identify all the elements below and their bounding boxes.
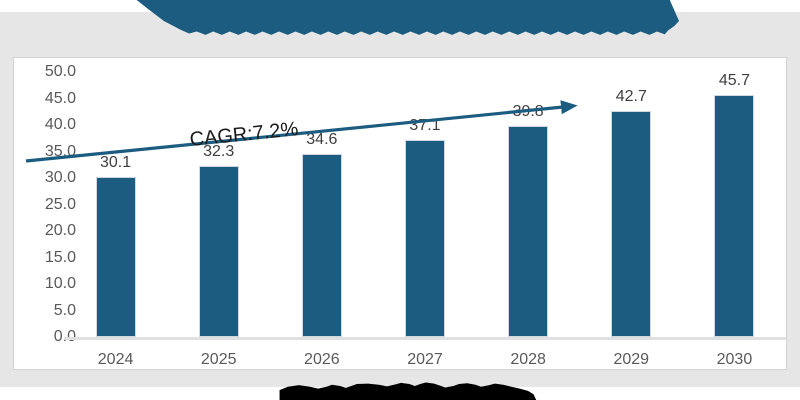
bar-2029[interactable] bbox=[611, 111, 651, 337]
bar-value-label-2028: 39.8 bbox=[488, 103, 568, 121]
bar-2024[interactable] bbox=[96, 177, 136, 337]
y-axis-tick-label: 5.0 bbox=[18, 303, 76, 319]
bar-2028[interactable] bbox=[508, 126, 548, 337]
bar-value-label-2027: 37.1 bbox=[385, 117, 465, 135]
y-axis-tick-label: 10.0 bbox=[18, 276, 76, 292]
x-axis-tick-label-2030: 2030 bbox=[694, 351, 774, 369]
y-axis-tick-label: 15.0 bbox=[18, 250, 76, 266]
bar-2026[interactable] bbox=[302, 154, 342, 337]
bar-2027[interactable] bbox=[405, 140, 445, 337]
y-axis-tick-label: 20.0 bbox=[18, 223, 76, 239]
bar-value-label-2024: 30.1 bbox=[76, 154, 156, 172]
y-axis-tick-label: 30.0 bbox=[18, 170, 76, 186]
x-axis-tick-label-2027: 2027 bbox=[385, 351, 465, 369]
bar-chart-plot-area: 50.045.040.035.030.025.020.015.010.05.00… bbox=[14, 58, 788, 371]
y-axis-tick-labels: 50.045.040.035.030.025.020.015.010.05.00… bbox=[14, 58, 76, 371]
bar-2025[interactable] bbox=[199, 166, 239, 337]
y-axis-tick-label: 25.0 bbox=[18, 197, 76, 213]
y-axis-tick-label: 35.0 bbox=[18, 144, 76, 160]
slide-canvas: 50.045.040.035.030.025.020.015.010.05.00… bbox=[0, 0, 800, 400]
x-axis-tick-label-2028: 2028 bbox=[488, 351, 568, 369]
x-axis-tick-label-2026: 2026 bbox=[282, 351, 362, 369]
bar-value-label-2029: 42.7 bbox=[591, 88, 671, 106]
x-axis-tick-label-2024: 2024 bbox=[76, 351, 156, 369]
y-axis-tick-label: 45.0 bbox=[18, 91, 76, 107]
bar-2030[interactable] bbox=[714, 95, 754, 337]
y-axis-tick-label: 40.0 bbox=[18, 117, 76, 133]
x-axis-baseline bbox=[64, 337, 786, 340]
y-axis-tick-label: 50.0 bbox=[18, 64, 76, 80]
bar-value-label-2030: 45.7 bbox=[694, 72, 774, 90]
x-axis-tick-label-2029: 2029 bbox=[591, 351, 671, 369]
chart-panel: 50.045.040.035.030.025.020.015.010.05.00… bbox=[13, 57, 787, 370]
x-axis-tick-label-2025: 2025 bbox=[179, 351, 259, 369]
